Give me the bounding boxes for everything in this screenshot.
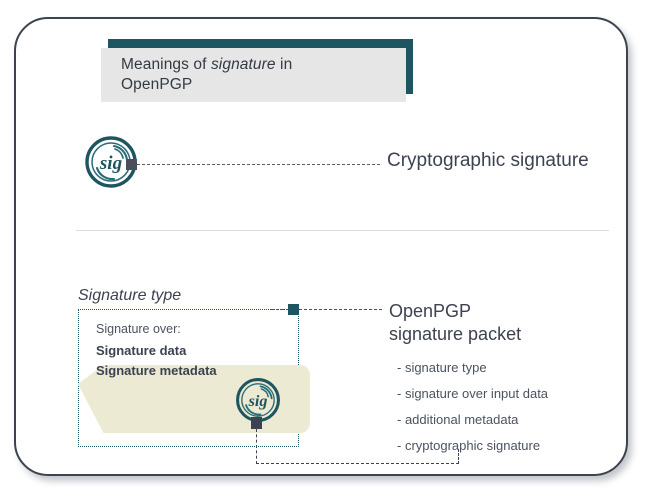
connector-dashed-line	[299, 309, 382, 310]
title-mid: in	[276, 56, 293, 73]
label-signature-type: Signature type	[78, 287, 181, 305]
packet-heading-line-2: signature packet	[389, 324, 521, 344]
connector-dashed-line	[271, 309, 289, 310]
connector-dashed-line	[256, 429, 257, 464]
text-signature-data: Signature data	[96, 343, 186, 358]
section-divider	[76, 230, 609, 231]
seal-text: sig	[99, 153, 122, 174]
title-emphasis: signature	[211, 56, 276, 73]
connector-square	[288, 304, 299, 315]
page-title: Meanings of signature inOpenPGP	[121, 55, 401, 95]
connector-square	[126, 159, 137, 170]
packet-heading-line-1: OpenPGP	[389, 301, 471, 321]
text-signature-metadata: Signature metadata	[96, 363, 217, 378]
label-cryptographic-signature: Cryptographic signature	[387, 150, 589, 172]
list-item: - signature type	[397, 360, 548, 375]
slide-frame: Meanings of signature inOpenPGP sig Cryp…	[14, 17, 628, 476]
title-suffix: OpenPGP	[121, 76, 192, 93]
text-signature-over: Signature over:	[96, 322, 181, 336]
seal-stub	[251, 417, 262, 429]
connector-dashed-line	[137, 164, 380, 165]
label-openpgp-signature-packet: OpenPGPsignature packet	[389, 300, 521, 346]
packet-contents-list: - signature type - signature over input …	[397, 360, 548, 464]
title-prefix: Meanings of	[121, 56, 211, 73]
list-item: - cryptographic signature	[397, 438, 548, 453]
seal-text: sig	[248, 393, 268, 410]
list-item: - signature over input data	[397, 386, 548, 401]
list-item: - additional metadata	[397, 412, 548, 427]
